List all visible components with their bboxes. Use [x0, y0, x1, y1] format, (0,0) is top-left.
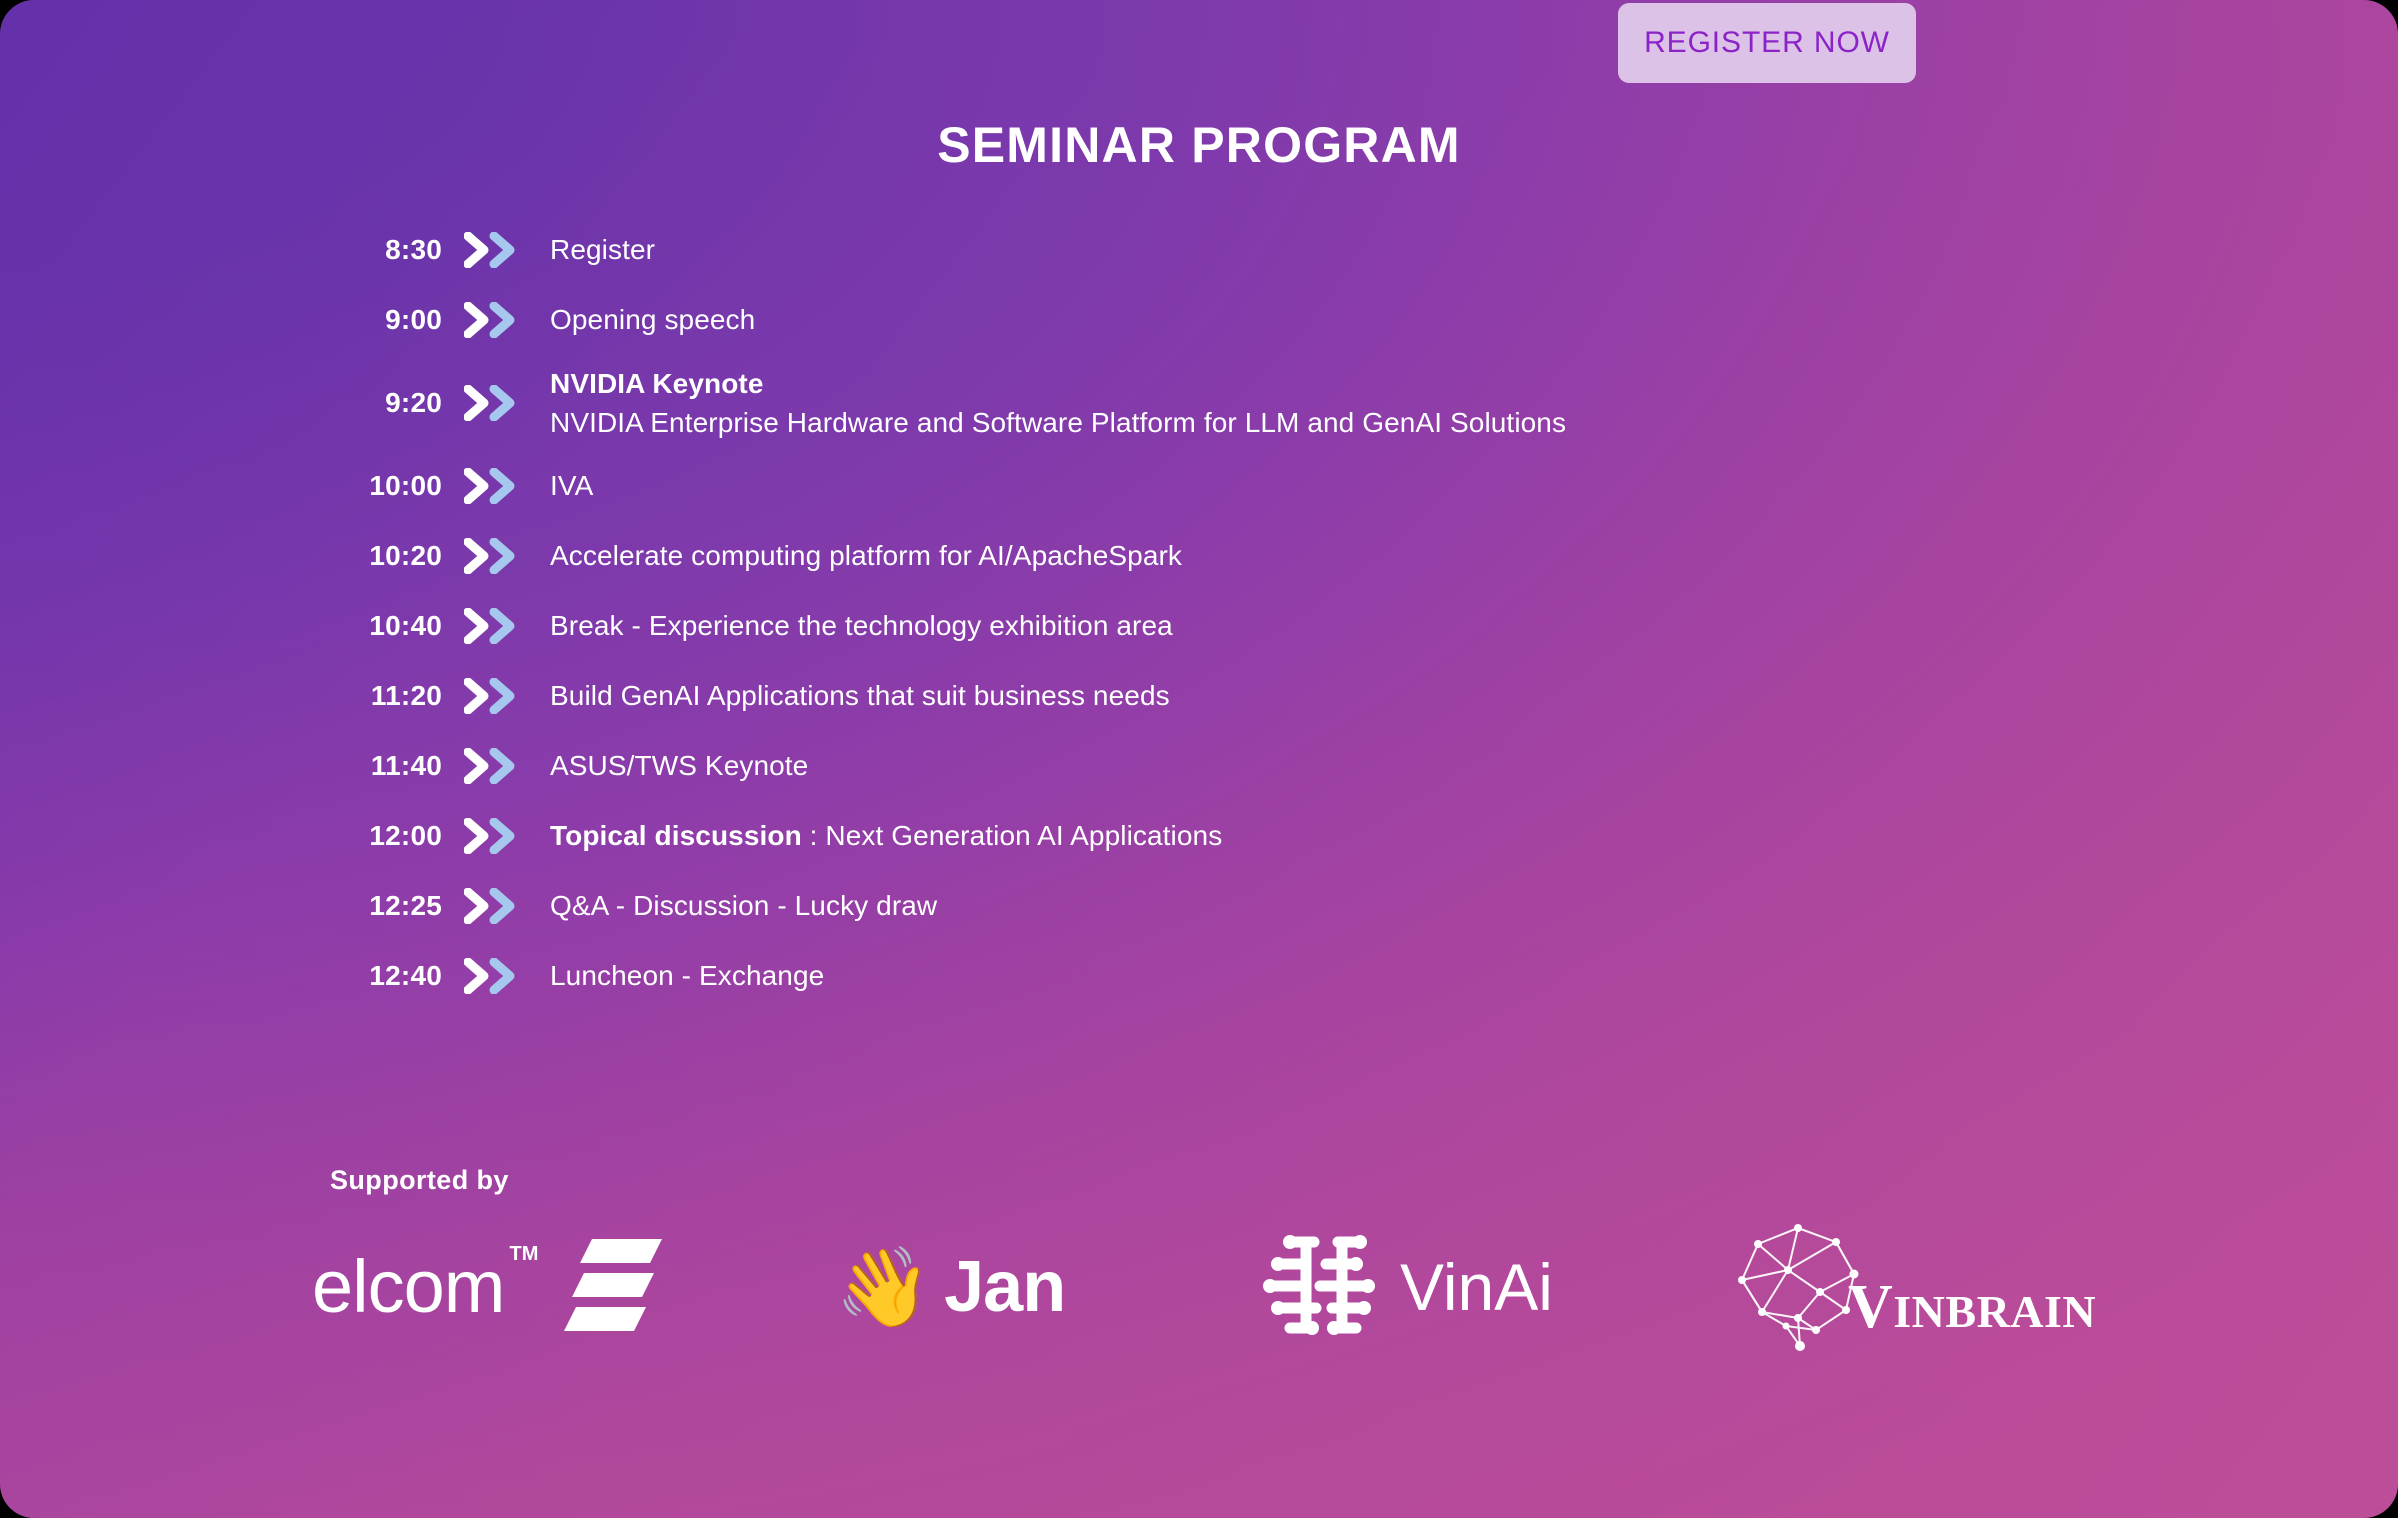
row-text: Build GenAI Applications that suit busin…: [550, 677, 2230, 714]
register-now-button[interactable]: REGISTER NOW: [1618, 3, 1916, 83]
schedule-row: 10:20 Accelerate computing platform for …: [330, 521, 2230, 591]
row-text: Luncheon - Exchange: [550, 957, 2230, 994]
row-time: 10:40: [330, 610, 442, 642]
double-chevron-right-icon: [464, 232, 522, 268]
schedule-row: 11:40 ASUS/TWS Keynote: [330, 731, 2230, 801]
schedule-list: 8:30 Register 9:00 Opening speech 9:: [330, 215, 2230, 1011]
elcom-word-text: elcom: [312, 1245, 504, 1328]
supporter-logos: elcomTM 👋 Jan: [300, 1222, 2340, 1362]
row-time: 11:20: [330, 680, 442, 712]
row-time: 10:00: [330, 470, 442, 502]
row-time: 10:20: [330, 540, 442, 572]
double-chevron-right-icon: [464, 385, 522, 421]
schedule-row: 10:00 IVA: [330, 451, 2230, 521]
schedule-row: 12:40 Luncheon - Exchange: [330, 941, 2230, 1011]
row-text: Accelerate computing platform for AI/Apa…: [550, 537, 2230, 574]
waving-hand-icon: 👋: [835, 1248, 932, 1326]
row-text: Break - Experience the technology exhibi…: [550, 607, 2230, 644]
logo-vinbrain: VINBRAIN: [1728, 1222, 2096, 1352]
row-time: 8:30: [330, 234, 442, 266]
schedule-row: 12:25 Q&A - Discussion - Lucky draw: [330, 871, 2230, 941]
double-chevron-right-icon: [464, 678, 522, 714]
row-time: 12:00: [330, 820, 442, 852]
elcom-wordmark: elcomTM: [312, 1250, 504, 1324]
double-chevron-right-icon: [464, 608, 522, 644]
vinbrain-wordmark: VINBRAIN: [1848, 1276, 2096, 1338]
vinbrain-initial: V: [1848, 1273, 1893, 1341]
vinai-circuit-mark-icon: [1260, 1226, 1386, 1349]
row-text: NVIDIA Keynote NVIDIA Enterprise Hardwar…: [550, 365, 2230, 441]
vinai-wordmark: VinAi: [1400, 1254, 1553, 1320]
row-text: Register: [550, 231, 2230, 268]
page-title: SEMINAR PROGRAM: [0, 116, 2398, 174]
schedule-row: 10:40 Break - Experience the technology …: [330, 591, 2230, 661]
row-lead: Topical discussion: [550, 820, 802, 851]
schedule-row: 8:30 Register: [330, 215, 2230, 285]
jan-wordmark: Jan: [944, 1251, 1065, 1323]
double-chevron-right-icon: [464, 888, 522, 924]
row-text: IVA: [550, 467, 2230, 504]
double-chevron-right-icon: [464, 818, 522, 854]
row-text-rest: : Next Generation AI Applications: [802, 820, 1223, 851]
supported-by-label: Supported by: [330, 1165, 509, 1196]
row-time: 12:25: [330, 890, 442, 922]
slide-root: REGISTER NOW SEMINAR PROGRAM 8:30 Regist…: [0, 0, 2398, 1518]
row-text: ASUS/TWS Keynote: [550, 747, 2230, 784]
row-text: Topical discussion : Next Generation AI …: [550, 817, 2230, 854]
trademark-symbol: TM: [510, 1244, 539, 1264]
vinbrain-rest: INBRAIN: [1893, 1286, 2096, 1337]
double-chevron-right-icon: [464, 958, 522, 994]
logo-vinai: VinAi: [1260, 1222, 1553, 1352]
logo-jan: 👋 Jan: [835, 1222, 1065, 1352]
logo-elcom: elcomTM: [312, 1222, 664, 1352]
row-time: 12:40: [330, 960, 442, 992]
double-chevron-right-icon: [464, 468, 522, 504]
double-chevron-right-icon: [464, 302, 522, 338]
row-time: 11:40: [330, 750, 442, 782]
elcom-e-mark-icon: [562, 1237, 664, 1338]
double-chevron-right-icon: [464, 538, 522, 574]
row-text: Opening speech: [550, 301, 2230, 338]
row-text: Q&A - Discussion - Lucky draw: [550, 887, 2230, 924]
schedule-row: 9:20 NVIDIA Keynote NVIDIA Enterprise Ha…: [330, 355, 2230, 451]
schedule-row: 11:20 Build GenAI Applications that suit…: [330, 661, 2230, 731]
double-chevron-right-icon: [464, 748, 522, 784]
schedule-row: 9:00 Opening speech: [330, 285, 2230, 355]
row-time: 9:00: [330, 304, 442, 336]
row-time: 9:20: [330, 387, 442, 419]
row-title: NVIDIA Keynote: [550, 365, 2230, 402]
row-subtitle: NVIDIA Enterprise Hardware and Software …: [550, 404, 2230, 441]
schedule-row: 12:00 Topical discussion : Next Generati…: [330, 801, 2230, 871]
